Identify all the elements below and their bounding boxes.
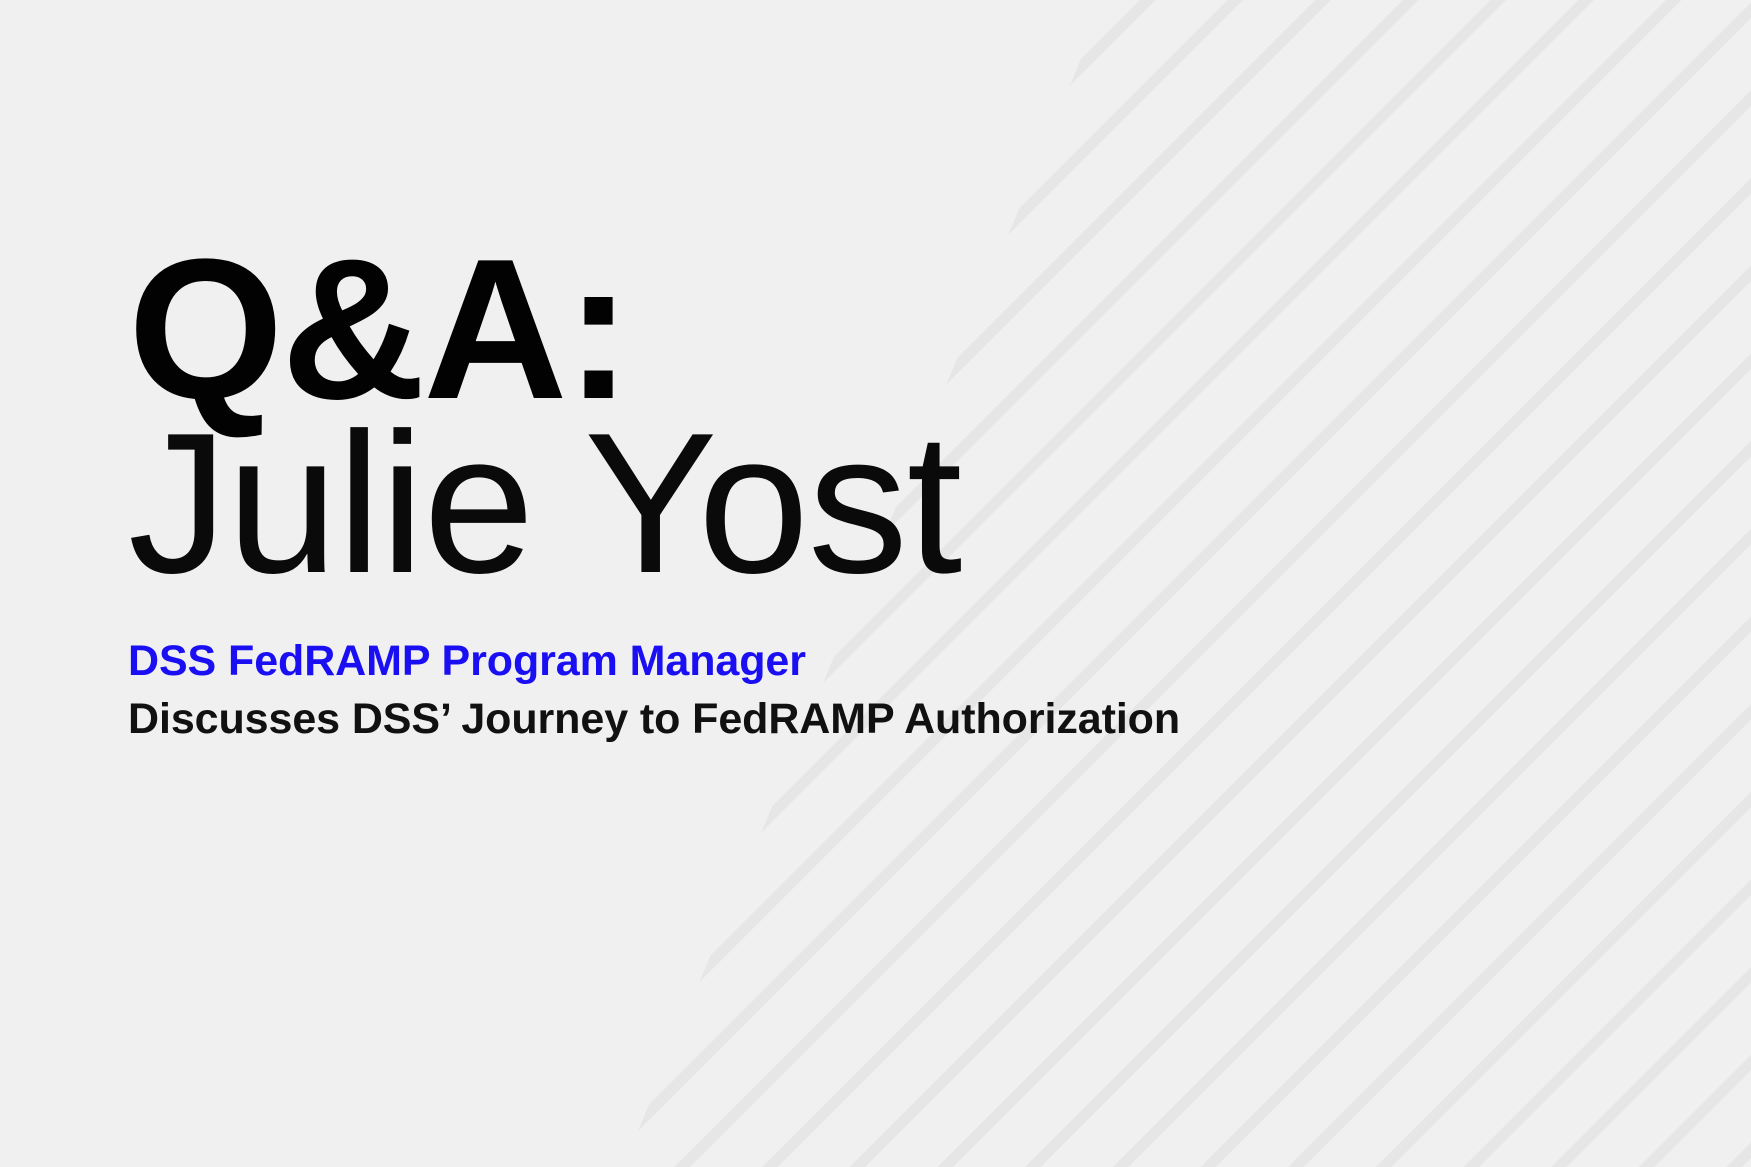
headline: Q&A: Julie Yost [128,236,1528,598]
title-text-block: Q&A: Julie Yost DSS FedRAMP Program Mana… [128,236,1528,745]
title-card: Q&A: Julie Yost DSS FedRAMP Program Mana… [0,0,1751,1167]
subtitle-role: DSS FedRAMP Program Manager [128,636,1528,688]
headline-line-name: Julie Yost [128,410,1528,598]
subtitle-description: Discusses DSS’ Journey to FedRAMP Author… [128,694,1528,746]
subtitle: DSS FedRAMP Program Manager Discusses DS… [128,636,1528,745]
